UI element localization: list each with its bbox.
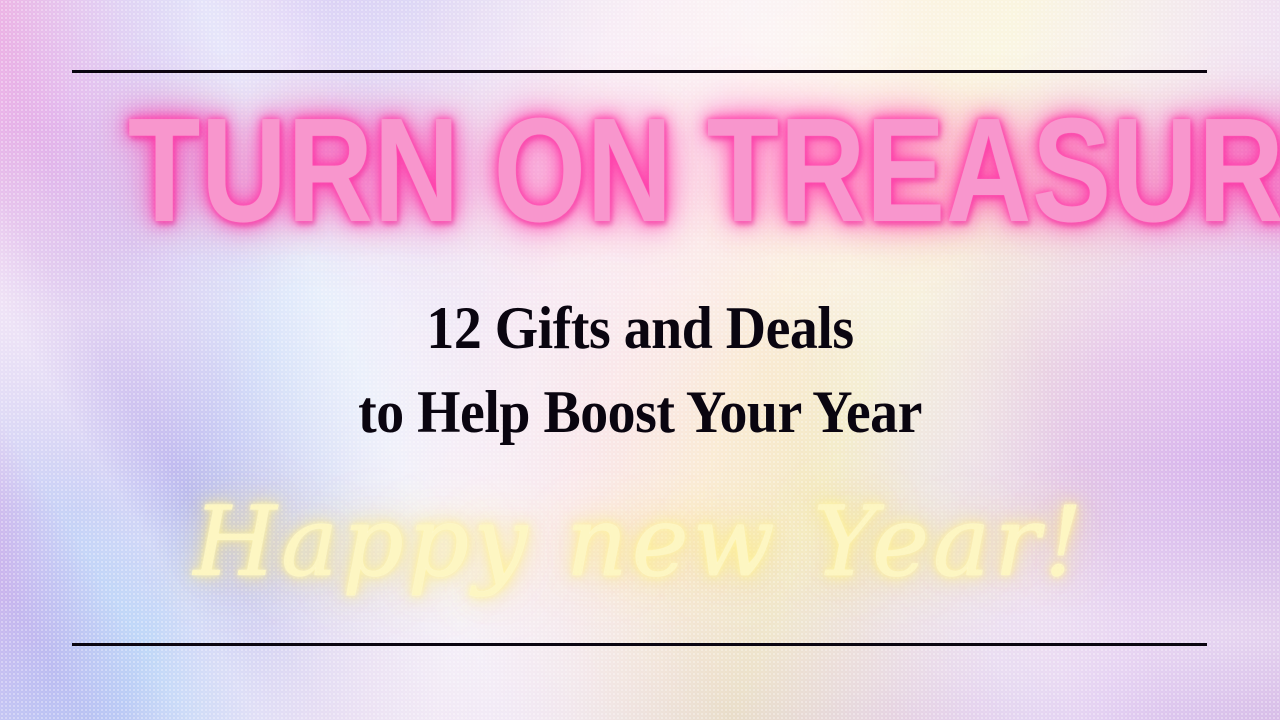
poster-canvas: TURN ON TREASURES 12 Gifts and Deals to … xyxy=(0,0,1280,720)
poster-subheadline-line-2: to Help Boost Your Year xyxy=(45,381,1235,443)
divider-rule-top xyxy=(72,70,1207,73)
poster-script-greeting: Happy new Year! xyxy=(0,482,1280,602)
poster-content: TURN ON TREASURES 12 Gifts and Deals to … xyxy=(0,0,1280,720)
poster-subheadline-line-1: 12 Gifts and Deals xyxy=(45,297,1235,359)
divider-rule-bottom xyxy=(72,643,1207,646)
poster-headline: TURN ON TREASURES xyxy=(128,96,1152,246)
